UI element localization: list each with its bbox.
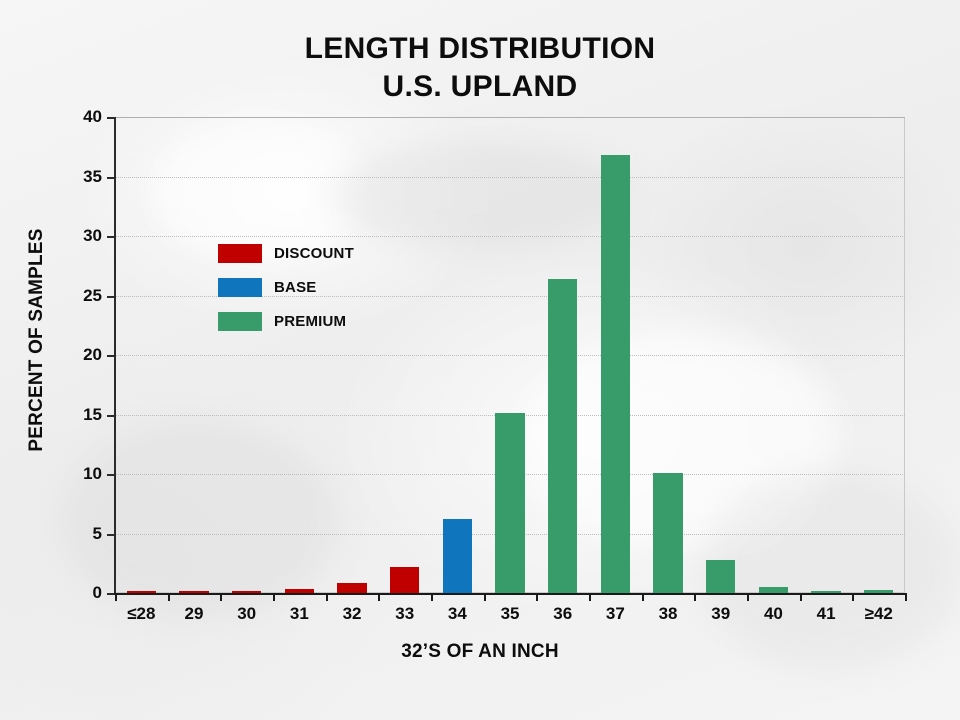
x-axis-title: 32’S OF AN INCH bbox=[0, 641, 960, 663]
chart-title-line-2: U.S. UPLAND bbox=[0, 68, 960, 106]
bar-slot bbox=[273, 117, 326, 593]
bar-slot bbox=[431, 117, 484, 593]
x-axis-tick-mark bbox=[378, 593, 380, 601]
y-axis-tick-label: 0 bbox=[93, 583, 102, 603]
x-axis-tick-mark bbox=[220, 593, 222, 601]
bar-slot bbox=[378, 117, 431, 593]
legend-label-base: BASE bbox=[274, 279, 316, 296]
bar bbox=[601, 155, 630, 593]
bar-slot bbox=[800, 117, 853, 593]
x-axis-tick-label: 29 bbox=[168, 604, 221, 624]
x-axis-tick-mark bbox=[800, 593, 802, 601]
bar-slot bbox=[694, 117, 747, 593]
y-axis-line bbox=[114, 117, 116, 593]
y-axis-tick-label: 15 bbox=[83, 405, 102, 425]
bar-series bbox=[115, 117, 905, 593]
x-axis-tick-mark bbox=[852, 593, 854, 601]
x-axis-tick-label: 30 bbox=[220, 604, 273, 624]
x-axis-tick-mark bbox=[115, 593, 117, 601]
x-axis-tick-mark bbox=[326, 593, 328, 601]
bar bbox=[337, 583, 366, 593]
bar bbox=[390, 567, 419, 593]
x-axis-tick-label: 38 bbox=[642, 604, 695, 624]
x-axis-tick-labels: ≤2829303132333435363738394041≥42 bbox=[115, 604, 905, 624]
bar-slot bbox=[852, 117, 905, 593]
x-axis-tick-mark bbox=[168, 593, 170, 601]
bar-slot bbox=[220, 117, 273, 593]
legend-swatch-base bbox=[218, 278, 262, 297]
x-axis-line bbox=[114, 593, 905, 595]
y-axis-tick-label: 5 bbox=[93, 524, 102, 544]
x-axis-tick-label: 33 bbox=[378, 604, 431, 624]
y-axis-title: PERCENT OF SAMPLES bbox=[26, 190, 48, 490]
y-axis-tick-label: 40 bbox=[83, 107, 102, 127]
bar-slot bbox=[589, 117, 642, 593]
x-axis-tick-label: 35 bbox=[484, 604, 537, 624]
x-axis-tick-label: 34 bbox=[431, 604, 484, 624]
bar-slot bbox=[326, 117, 379, 593]
chart-title: LENGTH DISTRIBUTION U.S. UPLAND bbox=[0, 30, 960, 107]
bar-slot bbox=[115, 117, 168, 593]
x-axis-tick-mark bbox=[589, 593, 591, 601]
chart-title-line-1: LENGTH DISTRIBUTION bbox=[0, 30, 960, 68]
legend-item-discount: DISCOUNT bbox=[218, 236, 418, 270]
x-axis-tick-label: ≥42 bbox=[852, 604, 905, 624]
slide-canvas: LENGTH DISTRIBUTION U.S. UPLAND PERCENT … bbox=[0, 0, 960, 720]
y-axis-tick-label: 20 bbox=[83, 345, 102, 365]
y-axis-tick-label: 10 bbox=[83, 464, 102, 484]
bar-slot bbox=[168, 117, 221, 593]
x-axis-tick-label: 32 bbox=[326, 604, 379, 624]
bar bbox=[443, 519, 472, 593]
x-axis-tick-label: 31 bbox=[273, 604, 326, 624]
bar-slot bbox=[642, 117, 695, 593]
bar bbox=[548, 279, 577, 593]
y-axis-tick-label: 25 bbox=[83, 286, 102, 306]
y-axis-tick-label: 30 bbox=[83, 226, 102, 246]
x-axis-tick-label: 36 bbox=[536, 604, 589, 624]
chart-legend: DISCOUNT BASE PREMIUM bbox=[218, 236, 418, 338]
x-axis-tick-mark bbox=[484, 593, 486, 601]
x-axis-tick-label: 37 bbox=[589, 604, 642, 624]
x-axis-tick-mark bbox=[747, 593, 749, 601]
bar-slot bbox=[536, 117, 589, 593]
bar bbox=[495, 413, 524, 593]
legend-item-premium: PREMIUM bbox=[218, 304, 418, 338]
x-axis-tick-mark bbox=[694, 593, 696, 601]
x-axis-tick-label: 41 bbox=[800, 604, 853, 624]
x-axis-tick-label: ≤28 bbox=[115, 604, 168, 624]
legend-label-discount: DISCOUNT bbox=[274, 245, 354, 262]
plot-area: 0510152025303540 DISCOUNT BASE PREMIUM bbox=[115, 117, 905, 593]
legend-label-premium: PREMIUM bbox=[274, 313, 346, 330]
bar-slot bbox=[747, 117, 800, 593]
x-axis-tick-mark bbox=[642, 593, 644, 601]
legend-swatch-discount bbox=[218, 244, 262, 263]
x-axis-tick-label: 40 bbox=[747, 604, 800, 624]
x-axis-tick-mark bbox=[273, 593, 275, 601]
x-axis-tick-mark bbox=[536, 593, 538, 601]
legend-swatch-premium bbox=[218, 312, 262, 331]
bar bbox=[706, 560, 735, 593]
x-axis-tick-mark bbox=[905, 593, 907, 601]
x-axis-tick-label: 39 bbox=[694, 604, 747, 624]
legend-item-base: BASE bbox=[218, 270, 418, 304]
bar bbox=[653, 473, 682, 593]
y-axis-tick-label: 35 bbox=[83, 167, 102, 187]
bar-slot bbox=[484, 117, 537, 593]
x-axis-tick-mark bbox=[431, 593, 433, 601]
